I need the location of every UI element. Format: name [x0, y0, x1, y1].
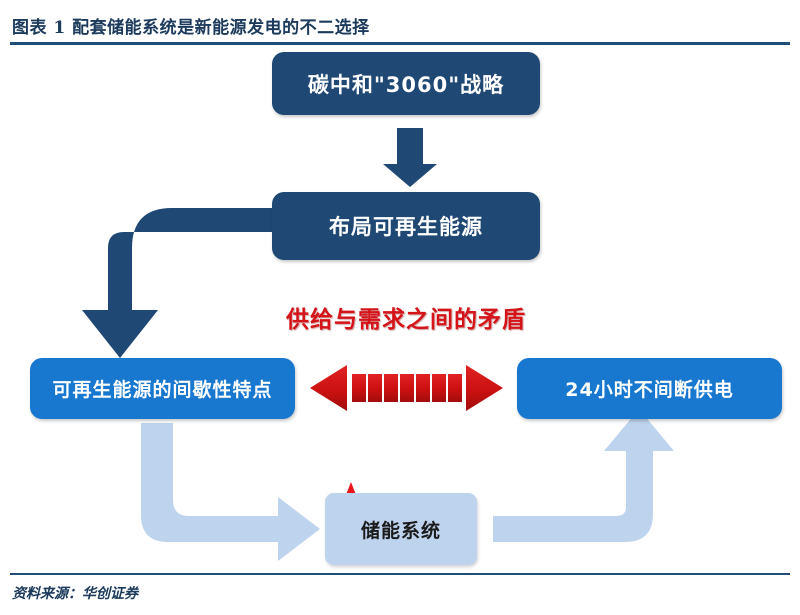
source-divider-bottom [10, 573, 790, 575]
source-note: 资料来源：华创证券 [12, 583, 138, 603]
node-intermittency[interactable]: 可再生能源的间歇性特点 [30, 358, 295, 419]
node-carbon-neutrality[interactable]: 碳中和"3060"战略 [272, 52, 540, 115]
diagram-canvas: 碳中和"3060"战略 布局可再生能源 供给与需求之间的矛盾 可再生能源的间歇性… [0, 45, 800, 573]
node-renewable-layout[interactable]: 布局可再生能源 [272, 192, 540, 260]
arrow-storage-to-power24 [493, 409, 674, 542]
figure-title: 图表 1 配套储能系统是新能源发电的不二选择 [12, 13, 370, 38]
node-energy-storage-system[interactable]: 储能系统 [325, 493, 477, 565]
conflict-annotation: 供给与需求之间的矛盾 [272, 300, 540, 334]
arrow-conflict-double [310, 365, 503, 411]
arrow-renewable-to-intermittency [82, 208, 272, 358]
arrow-intermittency-to-storage [141, 423, 320, 561]
arrow-carbon-to-renewable [383, 128, 437, 187]
node-24h-power-supply[interactable]: 24小时不间断供电 [517, 358, 782, 419]
figure-container: 图表 1 配套储能系统是新能源发电的不二选择 [0, 0, 800, 615]
